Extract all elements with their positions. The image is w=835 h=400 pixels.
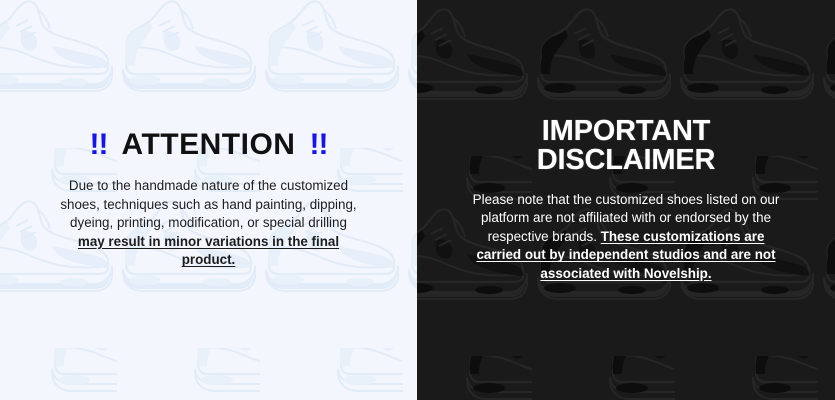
exclamation-right-icon: !! <box>309 128 327 161</box>
disclaimer-banner: !!ATTENTION!! Due to the handmade nature… <box>0 0 835 400</box>
exclamation-left-icon: !! <box>90 128 108 161</box>
attention-heading: !!ATTENTION!! <box>0 130 417 160</box>
disclaimer-heading: IMPORTANT DISCLAIMER <box>417 117 835 175</box>
attention-body-emphasis: may result in minor variations in the fi… <box>78 234 339 268</box>
disclaimer-heading-line2: DISCLAIMER <box>417 146 835 175</box>
disclaimer-content: IMPORTANT DISCLAIMER Please note that th… <box>417 117 835 284</box>
disclaimer-panel: IMPORTANT DISCLAIMER Please note that th… <box>417 0 835 400</box>
attention-heading-text: ATTENTION <box>122 130 296 160</box>
attention-content: !!ATTENTION!! Due to the handmade nature… <box>0 130 417 270</box>
disclaimer-body: Please note that the customized shoes li… <box>466 191 786 284</box>
disclaimer-heading-line1: IMPORTANT <box>542 115 710 147</box>
attention-body-plain: Due to the handmade nature of the custom… <box>60 178 356 230</box>
attention-body: Due to the handmade nature of the custom… <box>59 177 359 270</box>
attention-panel: !!ATTENTION!! Due to the handmade nature… <box>0 0 417 400</box>
